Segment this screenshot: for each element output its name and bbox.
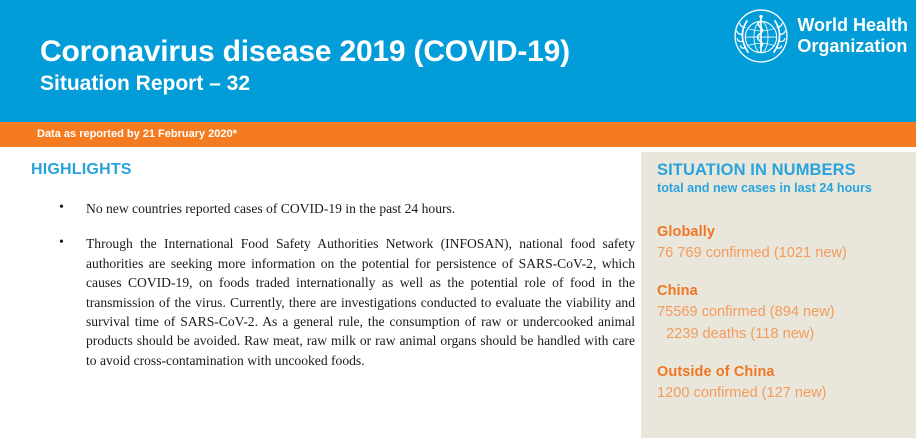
data-as-reported-text: Data as reported by 21 February 2020* (37, 127, 237, 142)
who-wordmark: World Health Organization (797, 15, 908, 57)
stat-label: Globally (657, 222, 910, 242)
stat-value: 75569 confirmed (894 new) (657, 301, 910, 323)
page-title: Coronavirus disease 2019 (COVID-19) (40, 34, 640, 70)
list-item: No new countries reported cases of COVID… (55, 199, 635, 218)
highlights-heading: HIGHLIGHTS (31, 160, 132, 180)
data-as-reported-bar: Data as reported by 21 February 2020* (0, 122, 916, 147)
title-block: Coronavirus disease 2019 (COVID-19) Situ… (40, 34, 640, 98)
stat-label: Outside of China (657, 362, 910, 382)
who-emblem-icon (734, 9, 788, 63)
stat-group-china: China 75569 confirmed (894 new) 2239 dea… (657, 281, 910, 345)
who-wordmark-line2: Organization (797, 36, 907, 56)
stat-value: 1200 confirmed (127 new) (657, 382, 910, 404)
report-subtitle: Situation Report – 32 (40, 70, 640, 98)
situation-panel-subtitle: total and new cases in last 24 hours (657, 180, 889, 197)
situation-in-numbers-panel: SITUATION IN NUMBERS total and new cases… (641, 152, 916, 438)
situation-report-page: Coronavirus disease 2019 (COVID-19) Situ… (0, 0, 916, 438)
who-logo: World Health Organization (734, 9, 908, 63)
main-content: HIGHLIGHTS No new countries reported cas… (0, 147, 641, 438)
stat-value: 76 769 confirmed (1021 new) (657, 242, 910, 264)
highlights-bullet-list: No new countries reported cases of COVID… (55, 199, 635, 386)
stat-group-globally: Globally 76 769 confirmed (1021 new) (657, 222, 910, 264)
report-header-band: Coronavirus disease 2019 (COVID-19) Situ… (0, 0, 916, 122)
stat-value: 2239 deaths (118 new) (657, 323, 910, 345)
list-item: Through the International Food Safety Au… (55, 234, 635, 370)
situation-panel-title: SITUATION IN NUMBERS (657, 160, 910, 180)
situation-panel-inner: SITUATION IN NUMBERS total and new cases… (657, 160, 910, 404)
stat-group-outside-of-china: Outside of China 1200 confirmed (127 new… (657, 362, 910, 404)
who-wordmark-line1: World Health (797, 15, 908, 35)
stat-label: China (657, 281, 910, 301)
